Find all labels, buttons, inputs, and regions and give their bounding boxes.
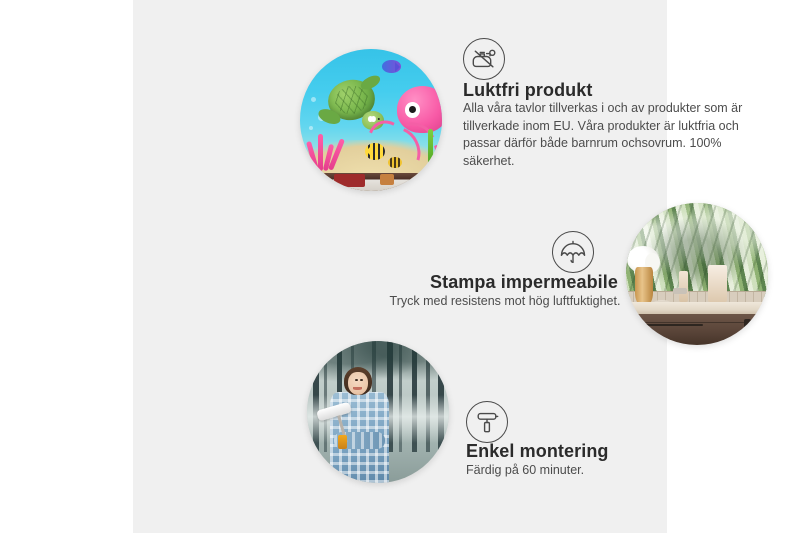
paint-roller-grip [338,435,347,449]
room-foreground [300,173,442,191]
feature-title-easy-mounting: Enkel montering [466,441,609,462]
feature-image-odour-free [300,49,442,191]
eyes [355,379,358,381]
soap-bottle [679,271,689,302]
feature-description-odour-free: Alla våra tavlor tillverkas i och av pro… [463,100,755,170]
wood-vanity-cabinet [626,314,768,345]
feature-image-waterproof-print [626,203,768,345]
face [348,372,368,395]
bathroom-scene [626,203,768,345]
feature-title-waterproof-print: Stampa impermeabile [430,272,618,293]
painter-scene [307,341,449,483]
content-panel: Luktfri produkt Alla våra tavlor tillver… [133,0,667,533]
feature-title-odour-free: Luktfri produkt [463,80,593,101]
faucet [673,288,687,294]
tree-canopy [307,341,449,389]
feature-description-easy-mounting: Färdig på 60 minuter. [466,462,726,480]
feature-description-waterproof-print: Tryck med resistens mot hög luftfuktighe… [355,293,655,311]
cabinet-seam [626,322,768,323]
pink-coral [306,133,349,171]
turtle-eye [369,118,371,121]
green-seaweed [428,129,433,172]
yellow-striped-fish-icon [365,143,385,160]
umbrella-icon [552,231,594,273]
bubble-icon [309,126,313,130]
paint-roller-icon [466,401,508,443]
no-fragrance-icon [463,38,505,80]
octopus-eye [405,102,420,118]
blue-fish-icon [382,60,400,73]
underwater-scene [300,49,442,191]
decor-box [708,265,726,302]
screenshot-root: Luktfri produkt Alla våra tavlor tillver… [0,0,800,533]
feature-image-easy-mounting [307,341,449,483]
